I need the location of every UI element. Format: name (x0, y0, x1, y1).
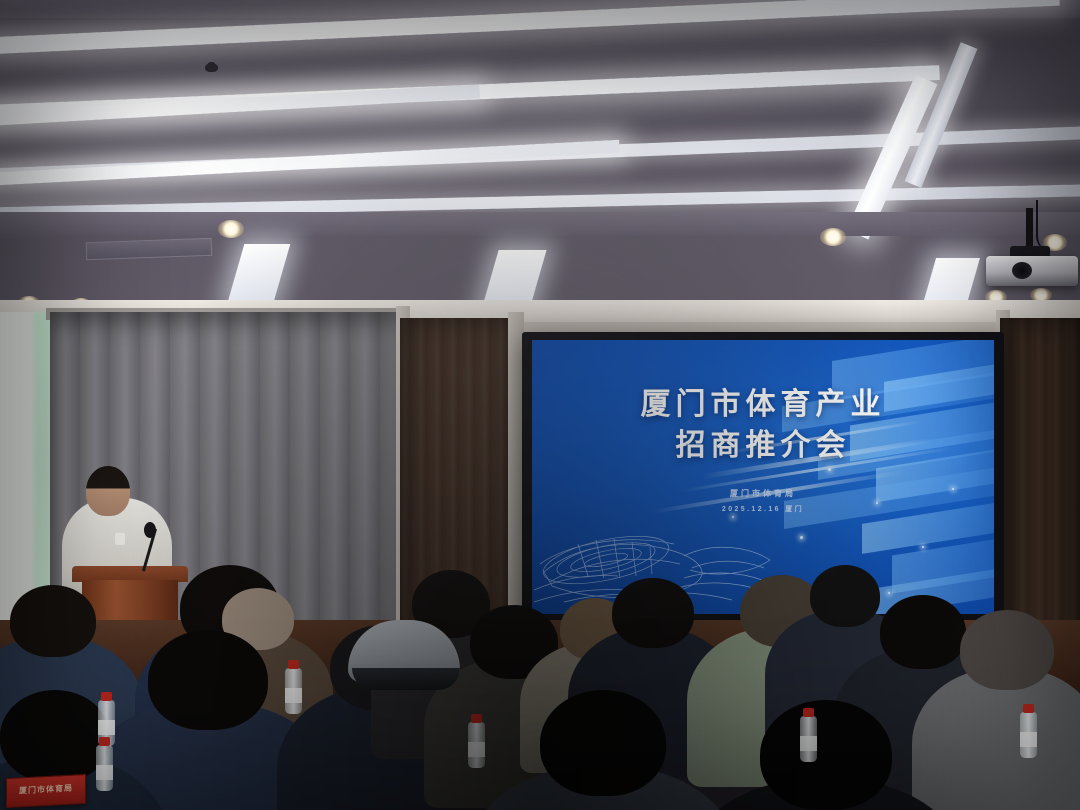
bottle-label (1020, 732, 1037, 747)
bottle-cap (288, 660, 299, 669)
bottle-cap (101, 692, 112, 701)
name-placard: 厦门市体育局 (6, 774, 86, 808)
attendee-front-puffer-head (540, 690, 666, 796)
water-bottle (800, 716, 817, 762)
bottle-label (468, 742, 485, 757)
water-bottle (1020, 712, 1037, 758)
bottle-cap (99, 737, 110, 746)
bottle-cap (803, 708, 814, 717)
water-bottle (285, 668, 302, 714)
bottle-cap (471, 714, 482, 723)
water-bottle (96, 745, 113, 791)
attendee-right-dark-head (880, 595, 966, 669)
attendee-front-black-head (760, 700, 892, 810)
conference-photo-scene: 厦门市体育产业 招商推介会 厦门市体育局 2025.12.16 厦门 厦门市体育… (0, 0, 1080, 810)
water-bottle (468, 722, 485, 768)
attendee-navy-suit-head (810, 565, 880, 627)
bottle-label (96, 765, 113, 780)
bottle-label (285, 688, 302, 703)
attendee-front-center-head (148, 630, 268, 730)
attendee-left-plaid-head (10, 585, 96, 657)
attendee-gray-jacket-head (960, 610, 1054, 690)
bottle-label (800, 736, 817, 751)
bottle-label (98, 720, 115, 735)
name-placard-text: 厦门市体育局 (7, 782, 85, 797)
baseball-cap-brim (352, 668, 460, 690)
attendee-front-left-head (0, 690, 110, 782)
audience (0, 0, 1080, 810)
attendee-center-dark-head (612, 578, 694, 648)
bottle-cap (1023, 704, 1034, 713)
